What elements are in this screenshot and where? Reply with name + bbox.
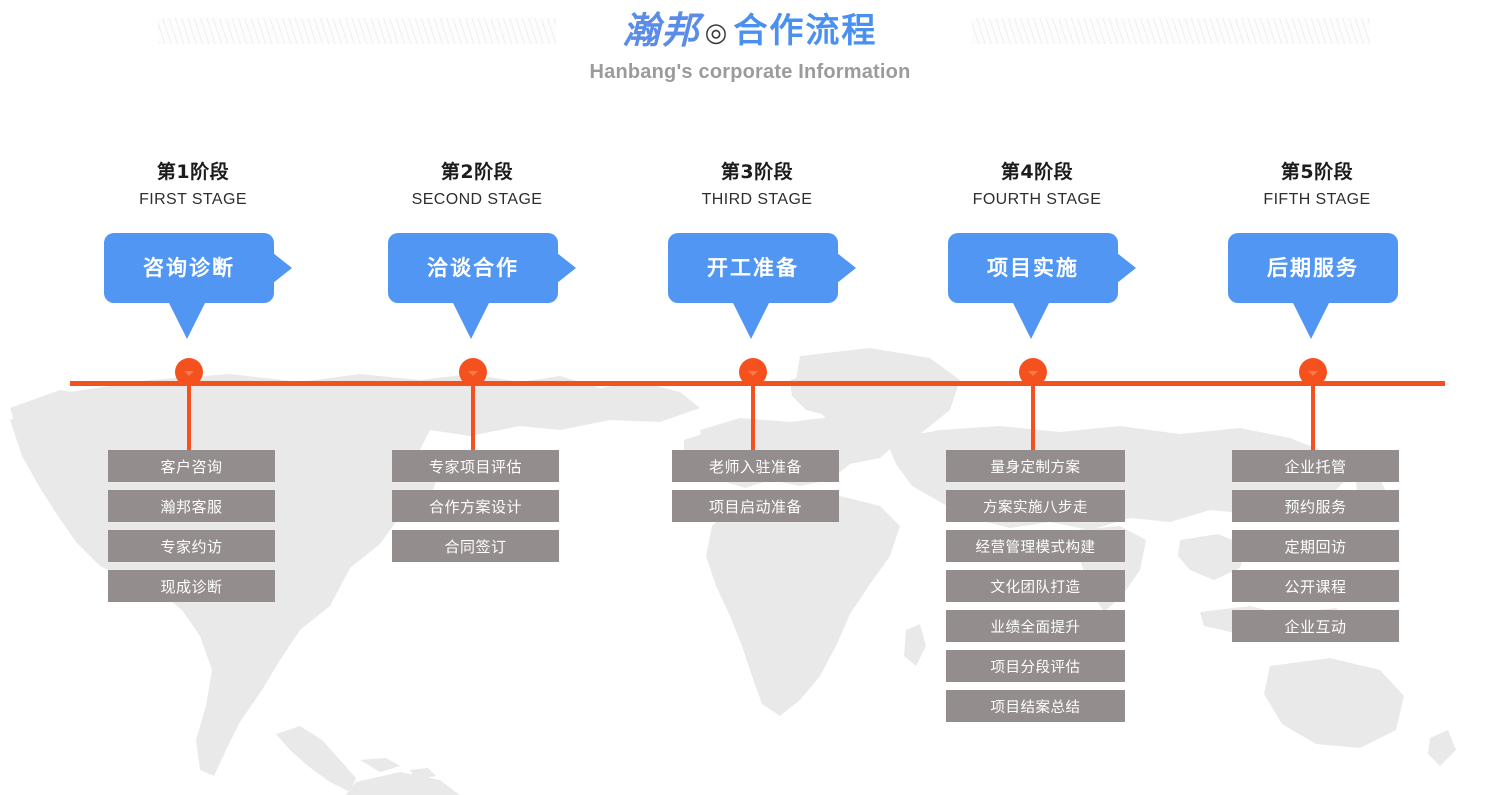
- stage-title-cn: 第3阶段: [642, 160, 872, 184]
- timeline-stem: [751, 382, 755, 450]
- stage-column-4: 第4阶段 FOURTH STAGE 项目实施 量身定制方案 方案实施八步走 经营…: [922, 160, 1152, 348]
- stage-bubble[interactable]: 项目实施: [922, 233, 1152, 348]
- stage-bubble[interactable]: 洽谈合作: [362, 233, 592, 348]
- list-item[interactable]: 项目结案总结: [946, 690, 1125, 722]
- list-item[interactable]: 客户咨询: [108, 450, 275, 482]
- bubble-tail-icon: [452, 301, 490, 339]
- bubble-tail-icon: [1012, 301, 1050, 339]
- list-item[interactable]: 文化团队打造: [946, 570, 1125, 602]
- list-item[interactable]: 合同签订: [392, 530, 559, 562]
- list-item[interactable]: 项目启动准备: [672, 490, 839, 522]
- bubble-label: 咨询诊断: [143, 255, 235, 281]
- stage-item-list-1: 客户咨询 瀚邦客服 专家约访 现成诊断: [108, 450, 275, 610]
- list-item[interactable]: 项目分段评估: [946, 650, 1125, 682]
- bubble-tail-icon: [168, 301, 206, 339]
- bubble-label: 开工准备: [707, 255, 799, 281]
- chevron-down-icon: [1308, 371, 1318, 376]
- stage-title-cn: 第1阶段: [78, 160, 308, 184]
- list-item[interactable]: 经营管理模式构建: [946, 530, 1125, 562]
- list-item[interactable]: 预约服务: [1232, 490, 1399, 522]
- bubble-label: 洽谈合作: [427, 255, 519, 281]
- bubble-tail-icon: [732, 301, 770, 339]
- stage-column-1: 第1阶段 FIRST STAGE 咨询诊断 客户咨询 瀚邦客服 专家约访 现成诊…: [78, 160, 308, 348]
- bubble-label: 项目实施: [987, 255, 1079, 281]
- page-title: 瀚邦 ◎ 合作流程: [623, 8, 878, 54]
- stage-title-en: SECOND STAGE: [362, 189, 592, 211]
- title-text: 合作流程: [733, 8, 877, 54]
- list-item[interactable]: 现成诊断: [108, 570, 275, 602]
- timeline-node-1[interactable]: [175, 358, 203, 386]
- list-item[interactable]: 瀚邦客服: [108, 490, 275, 522]
- timeline-node-5[interactable]: [1299, 358, 1327, 386]
- timeline-stem: [471, 382, 475, 450]
- chevron-down-icon: [1028, 371, 1038, 376]
- bubble-body[interactable]: 咨询诊断: [104, 233, 274, 303]
- bubble-label: 后期服务: [1267, 255, 1359, 281]
- bubble-body[interactable]: 后期服务: [1228, 233, 1398, 303]
- timeline-stem: [1031, 382, 1035, 450]
- page-subtitle: Hanbang's corporate Information: [0, 61, 1500, 84]
- brand-mark-icon: ◎: [703, 9, 732, 55]
- stage-item-list-5: 企业托管 预约服务 定期回访 公开课程 企业互动: [1232, 450, 1399, 650]
- stage-item-list-2: 专家项目评估 合作方案设计 合同签订: [392, 450, 559, 570]
- bubble-body[interactable]: 项目实施: [948, 233, 1118, 303]
- list-item[interactable]: 专家约访: [108, 530, 275, 562]
- timeline-node-2[interactable]: [459, 358, 487, 386]
- stage-item-list-3: 老师入驻准备 项目启动准备: [672, 450, 839, 530]
- bubble-body[interactable]: 开工准备: [668, 233, 838, 303]
- timeline-node-3[interactable]: [739, 358, 767, 386]
- page-header: 瀚邦 ◎ 合作流程 Hanbang's corporate Informatio…: [0, 8, 1500, 84]
- chevron-down-icon: [748, 371, 758, 376]
- chevron-down-icon: [184, 371, 194, 376]
- list-item[interactable]: 业绩全面提升: [946, 610, 1125, 642]
- bubble-tail-icon: [1292, 301, 1330, 339]
- stage-title-cn: 第5阶段: [1202, 160, 1432, 184]
- list-item[interactable]: 专家项目评估: [392, 450, 559, 482]
- list-item[interactable]: 企业互动: [1232, 610, 1399, 642]
- list-item[interactable]: 定期回访: [1232, 530, 1399, 562]
- stage-column-2: 第2阶段 SECOND STAGE 洽谈合作 专家项目评估 合作方案设计 合同签…: [362, 160, 592, 348]
- stage-title-en: FIFTH STAGE: [1202, 189, 1432, 211]
- stage-bubble[interactable]: 咨询诊断: [78, 233, 308, 348]
- list-item[interactable]: 方案实施八步走: [946, 490, 1125, 522]
- list-item[interactable]: 合作方案设计: [392, 490, 559, 522]
- brand-name: 瀚邦: [623, 8, 701, 54]
- chevron-down-icon: [468, 371, 478, 376]
- list-item[interactable]: 公开课程: [1232, 570, 1399, 602]
- stage-item-list-4: 量身定制方案 方案实施八步走 经营管理模式构建 文化团队打造 业绩全面提升 项目…: [946, 450, 1125, 730]
- stage-title-en: FOURTH STAGE: [922, 189, 1152, 211]
- stage-title-cn: 第4阶段: [922, 160, 1152, 184]
- bubble-body[interactable]: 洽谈合作: [388, 233, 558, 303]
- stage-title-en: THIRD STAGE: [642, 189, 872, 211]
- stage-bubble[interactable]: 开工准备: [642, 233, 872, 348]
- stage-title-en: FIRST STAGE: [78, 189, 308, 211]
- list-item[interactable]: 量身定制方案: [946, 450, 1125, 482]
- list-item[interactable]: 企业托管: [1232, 450, 1399, 482]
- stage-bubble[interactable]: 后期服务: [1202, 233, 1432, 348]
- timeline-node-4[interactable]: [1019, 358, 1047, 386]
- stage-column-3: 第3阶段 THIRD STAGE 开工准备 老师入驻准备 项目启动准备: [642, 160, 872, 348]
- stage-title-cn: 第2阶段: [362, 160, 592, 184]
- list-item[interactable]: 老师入驻准备: [672, 450, 839, 482]
- infographic-canvas: 瀚邦 ◎ 合作流程 Hanbang's corporate Informatio…: [0, 0, 1500, 795]
- timeline-stem: [187, 382, 191, 450]
- timeline-stem: [1311, 382, 1315, 450]
- stage-column-5: 第5阶段 FIFTH STAGE 后期服务 企业托管 预约服务 定期回访 公开课…: [1202, 160, 1432, 348]
